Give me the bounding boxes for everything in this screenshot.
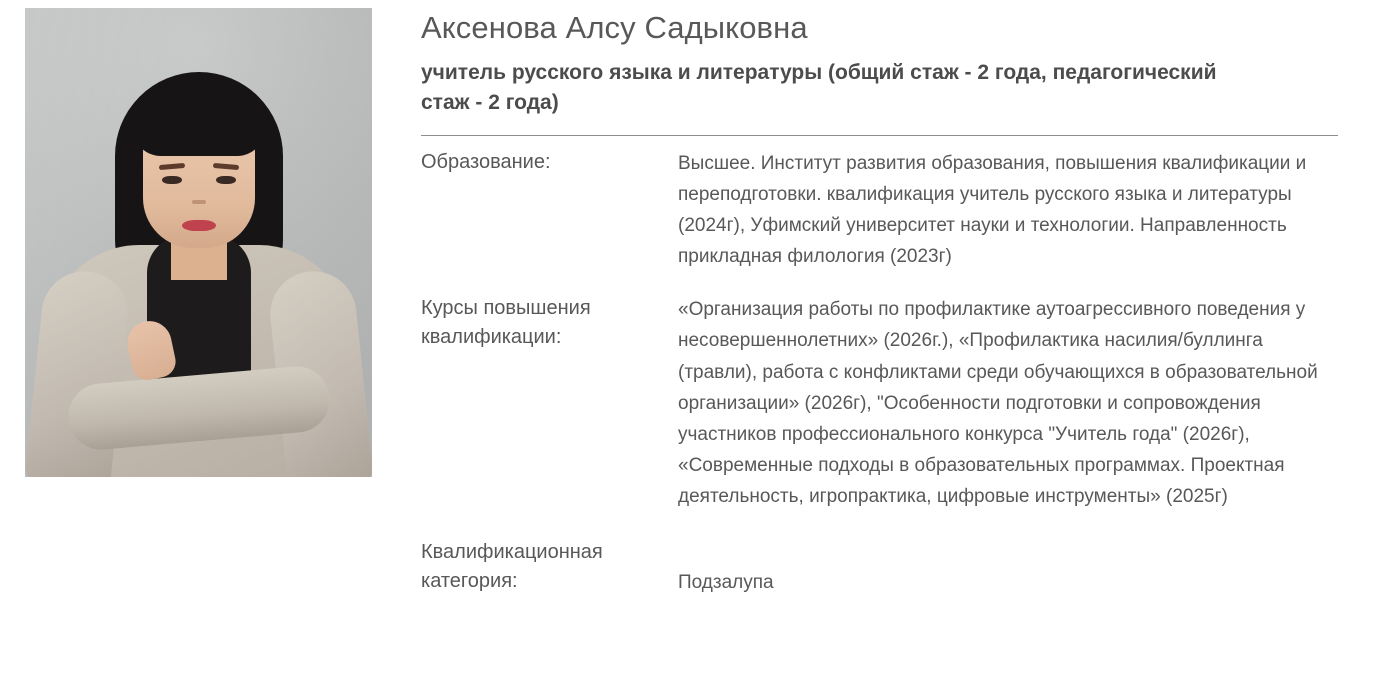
table-row: Квалификационная категория: Подзалупа	[421, 538, 1338, 598]
eye-right-shape	[216, 176, 236, 184]
table-cell-label: Курсы повышения квалификации:	[421, 294, 678, 538]
table-cell-label: Квалификационная категория:	[421, 538, 678, 598]
page-title: Аксенова Алсу Садыковна	[421, 0, 1339, 48]
table-row: Образование: Высшее. Институт развития о…	[421, 148, 1338, 295]
nose-shape	[192, 200, 206, 204]
label-qualification-category: Квалификационная категория:	[421, 538, 668, 595]
profile-info-table: Образование: Высшее. Институт развития о…	[421, 148, 1338, 599]
table-row: Курсы повышения квалификации: «Организац…	[421, 294, 1338, 538]
table-cell-value: Подзалупа	[678, 538, 1338, 598]
teacher-photo	[25, 8, 372, 477]
label-courses: Курсы повышения квалификации:	[421, 294, 668, 351]
label-education: Образование:	[421, 148, 668, 176]
person-role-subtitle: учитель русского языка и литературы (общ…	[421, 48, 1221, 119]
value-courses: «Организация работы по профилактике ауто…	[678, 294, 1338, 512]
teacher-profile-page: Аксенова Алсу Садыковна учитель русского…	[0, 0, 1390, 678]
profile-content: Аксенова Алсу Садыковна учитель русского…	[421, 0, 1339, 599]
lips-shape	[182, 220, 216, 231]
table-cell-label: Образование:	[421, 148, 678, 295]
value-qualification-category: Подзалупа	[678, 538, 1338, 598]
table-cell-value: Высшее. Институт развития образования, п…	[678, 148, 1338, 295]
value-education: Высшее. Институт развития образования, п…	[678, 148, 1338, 273]
hair-fringe-shape	[133, 82, 265, 156]
portrait-photo-image	[25, 8, 372, 477]
eye-left-shape	[162, 176, 182, 184]
header-divider	[421, 135, 1338, 136]
table-cell-value: «Организация работы по профилактике ауто…	[678, 294, 1338, 538]
